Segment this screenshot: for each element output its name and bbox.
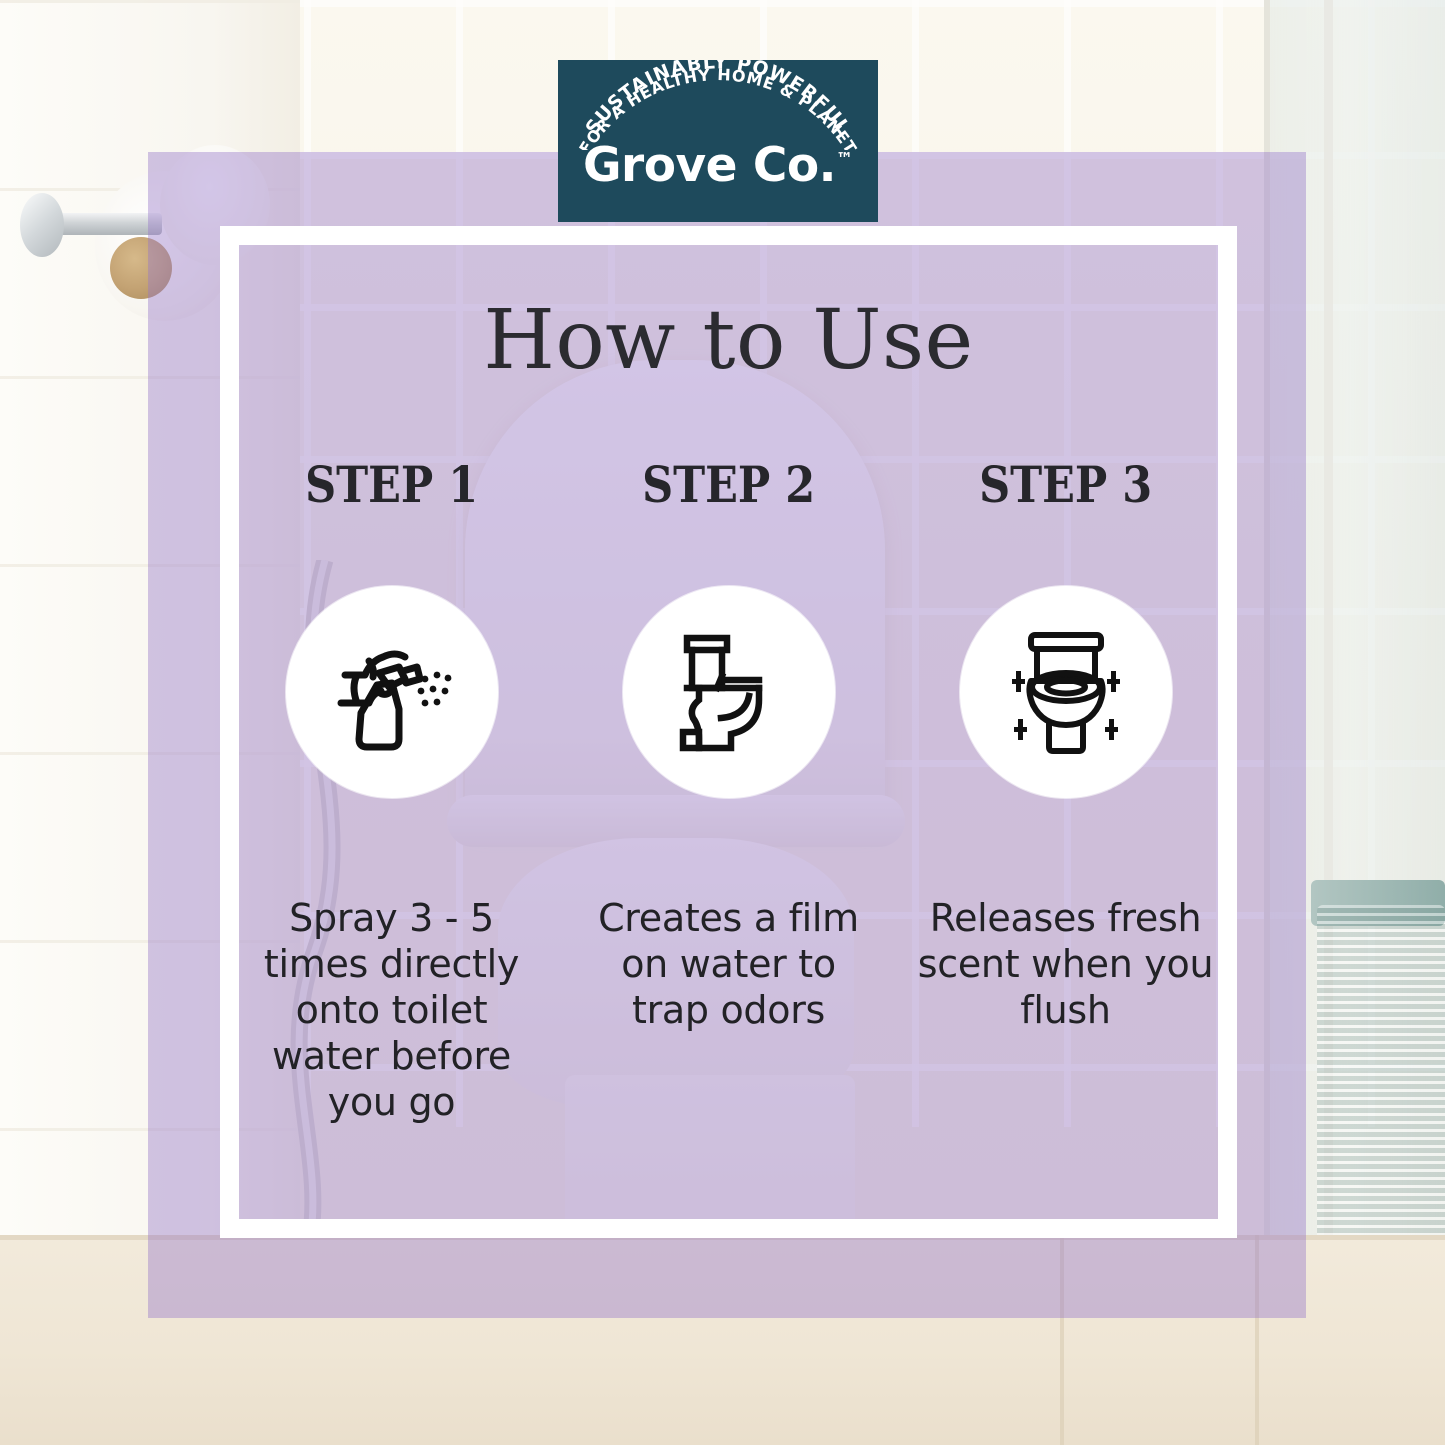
step-3-label: STEP 3 [979,460,1152,510]
wordmark-text: Grove Co. [583,138,836,193]
step-1-caption: Spray 3 - 5 times directly onto toilet w… [242,896,542,1126]
step-3-caption: Releases fresh scent when you flush [913,896,1218,1034]
poster-canvas: SUSTAINABLY POWERFUL FOR A HEALTHY HOME … [0,0,1445,1445]
step-2-caption: Creates a film on water to trap odors [579,896,879,1034]
step-2-label: STEP 2 [642,460,815,510]
grove-co-wordmark: Grove Co.™ [558,142,878,189]
trademark-symbol: ™ [836,149,853,169]
content-area: How to Use STEP 1 [239,245,1218,1219]
toilet-side-view-icon [659,622,799,762]
badge-tagline-arched: SUSTAINABLY POWERFUL FOR A HEALTHY HOME … [558,60,878,150]
step-2: STEP 2 [576,460,881,1126]
step-1-label: STEP 1 [305,460,478,510]
step-1-icon-circle [286,586,498,798]
step-3-icon-circle [960,586,1172,798]
hand-spray-bottle-icon [317,617,467,767]
page-title: How to Use [239,300,1218,382]
spray-dots [417,672,451,707]
step-3: STEP 3 [913,460,1218,1126]
step-2-icon-circle [623,586,835,798]
steps-row: STEP 1 [239,460,1218,1126]
grove-co-badge: SUSTAINABLY POWERFUL FOR A HEALTHY HOME … [558,60,878,222]
step-1: STEP 1 [239,460,544,1126]
sparkling-toilet-icon [991,617,1141,767]
